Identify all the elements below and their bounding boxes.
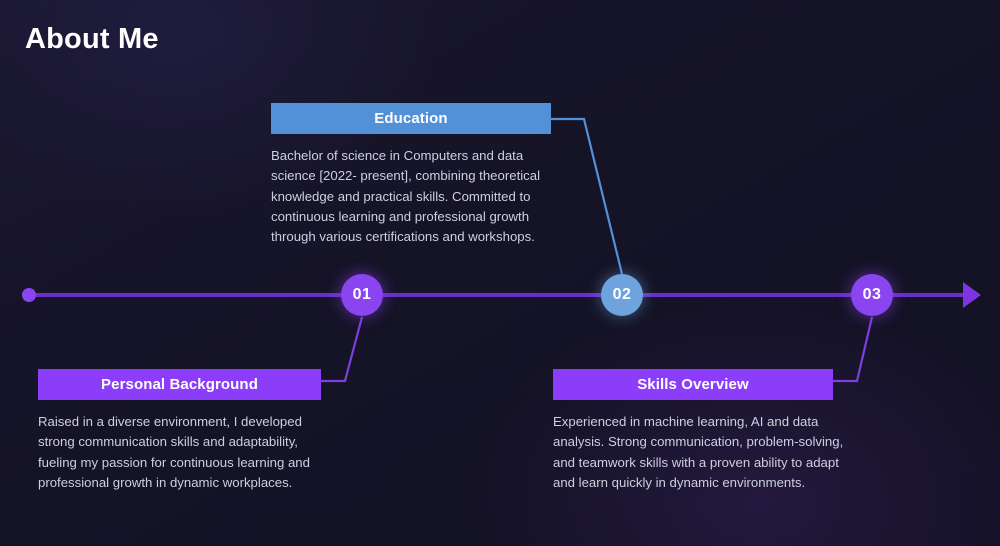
card-personal-background-title: Personal Background <box>38 369 321 400</box>
card-personal-background[interactable]: Personal Background Raised in a diverse … <box>38 369 321 493</box>
timeline-node-02[interactable]: 02 <box>601 274 643 316</box>
timeline-end-arrow <box>963 282 981 308</box>
card-skills-overview[interactable]: Skills Overview Experienced in machine l… <box>553 369 833 493</box>
card-education[interactable]: Education Bachelor of science in Compute… <box>271 103 551 247</box>
card-education-body: Bachelor of science in Computers and dat… <box>271 146 561 247</box>
card-education-title: Education <box>271 103 551 134</box>
timeline-node-03-label: 03 <box>863 286 882 304</box>
timeline-node-01-label: 01 <box>353 286 372 304</box>
timeline-start-dot <box>22 288 36 302</box>
timeline-node-01[interactable]: 01 <box>341 274 383 316</box>
timeline-node-02-label: 02 <box>613 286 632 304</box>
card-skills-overview-title: Skills Overview <box>553 369 833 400</box>
connector-node3-to-skills <box>833 317 872 381</box>
about-me-timeline-slide: About Me 01 02 03 Education Bachelor of … <box>0 0 1000 546</box>
connector-node1-to-personal <box>321 317 362 381</box>
card-skills-overview-body: Experienced in machine learning, AI and … <box>553 412 845 493</box>
page-title: About Me <box>25 24 159 56</box>
timeline-node-03[interactable]: 03 <box>851 274 893 316</box>
card-personal-background-body: Raised in a diverse environment, I devel… <box>38 412 318 493</box>
connector-node2-to-education <box>551 119 622 274</box>
